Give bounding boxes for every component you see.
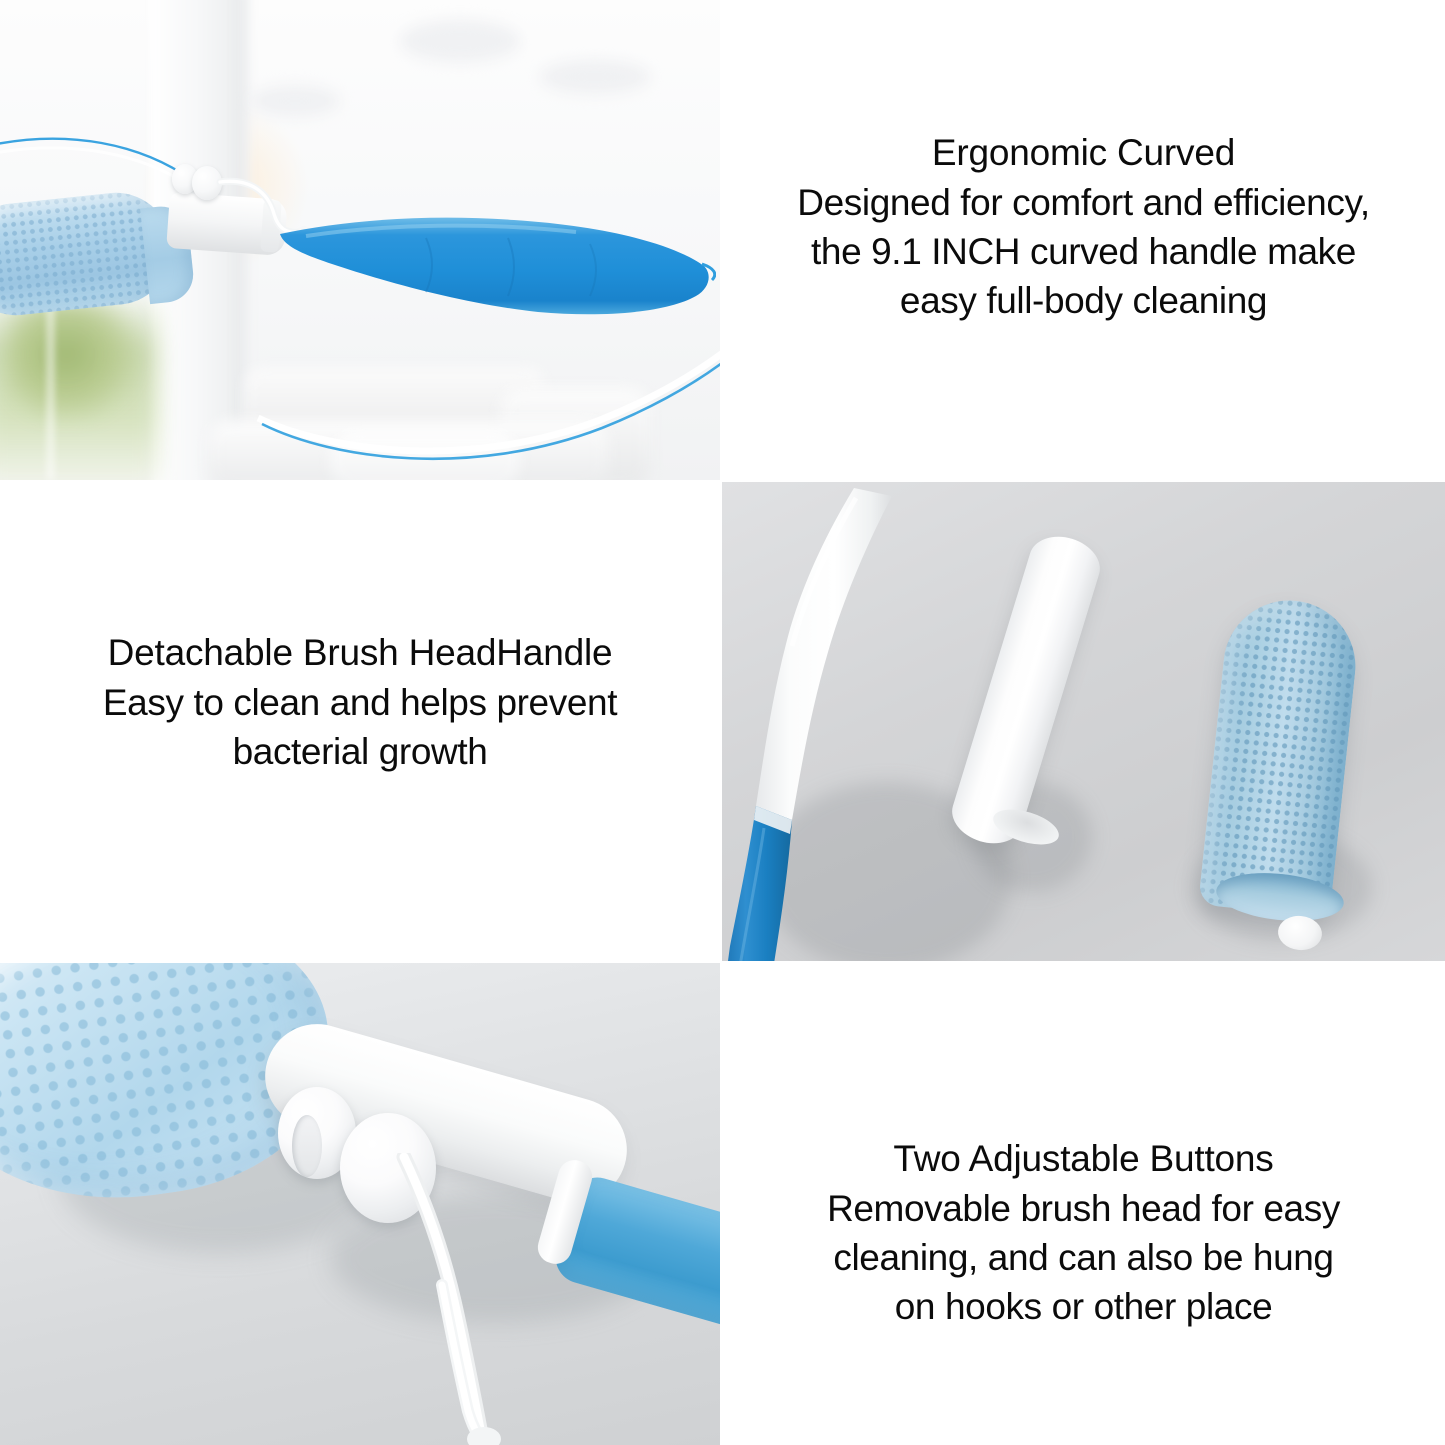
feature-body-line: easy full-body cleaning	[722, 276, 1445, 325]
feature-body-line: cleaning, and can also be hung	[722, 1233, 1445, 1282]
panel-divider-horizontal	[0, 961, 1445, 963]
feature-body-line: on hooks or other place	[722, 1282, 1445, 1331]
feature-title: Detachable Brush HeadHandle	[0, 628, 720, 678]
feature-body-line: the 9.1 INCH curved handle make	[722, 227, 1445, 276]
panel-divider-vertical	[720, 0, 722, 1445]
hanging-cord-loop	[380, 1153, 600, 1445]
feature-body-line: Designed for comfort and efficiency,	[722, 178, 1445, 227]
adjustable-button	[192, 166, 222, 200]
blue-ergonomic-handle	[276, 212, 716, 320]
feature-text-detachable-brush-head: Detachable Brush HeadHandle Easy to clea…	[0, 628, 720, 776]
feature-image-two-adjustable-buttons	[0, 963, 720, 1445]
panel-divider-horizontal	[0, 480, 1445, 482]
infographic-page: Ergonomic Curved Designed for comfort an…	[0, 0, 1445, 1445]
adjustable-button-notch	[292, 1115, 322, 1177]
feature-title: Ergonomic Curved	[722, 128, 1445, 178]
feature-title: Two Adjustable Buttons	[722, 1134, 1445, 1184]
feature-body-line: bacterial growth	[0, 727, 720, 776]
feature-body-line: Easy to clean and helps prevent	[0, 678, 720, 727]
feature-text-two-adjustable-buttons: Two Adjustable Buttons Removable brush h…	[722, 1134, 1445, 1331]
feature-image-ergonomic-curved	[0, 0, 720, 480]
feature-body-line: Removable brush head for easy	[722, 1184, 1445, 1233]
feature-image-detachable-brush-head	[722, 482, 1445, 962]
feature-text-ergonomic-curved: Ergonomic Curved Designed for comfort an…	[722, 128, 1445, 325]
